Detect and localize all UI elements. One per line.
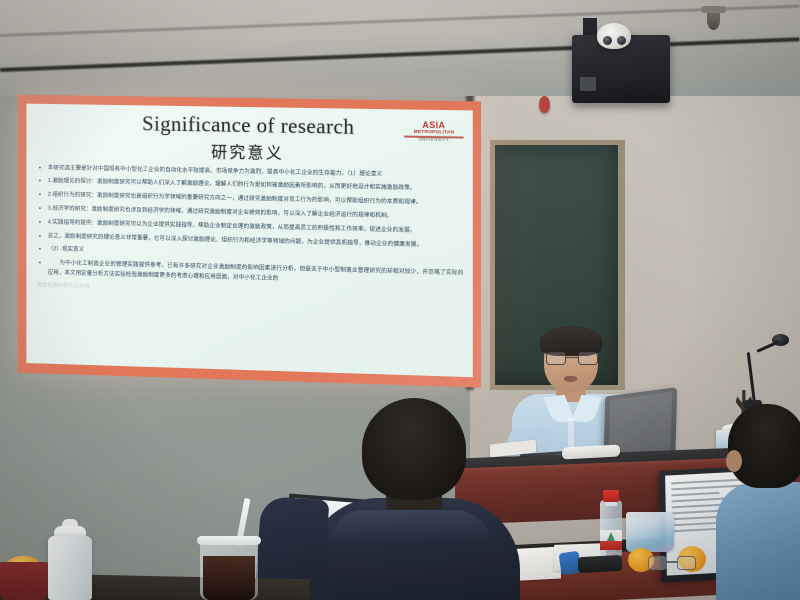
lens-right: [578, 352, 598, 365]
red-wall-decoration-icon: [539, 96, 550, 113]
bullet-marker-icon: •: [37, 245, 43, 255]
presenter-mouth: [564, 376, 577, 382]
document-line: [672, 528, 720, 532]
lens-right: [677, 556, 696, 570]
audience-right-torso: [716, 482, 800, 600]
document-line: [672, 510, 720, 514]
camera-lens-icon: [617, 36, 626, 45]
bullet-marker-icon: •: [37, 191, 43, 201]
glasses-bridge: [566, 357, 578, 358]
red-cup: [0, 562, 48, 600]
eyeglasses-icon: [546, 352, 598, 365]
bullet-marker-icon: •: [37, 164, 43, 174]
audience-right-ear: [726, 450, 742, 472]
cup-lid-rim: [197, 536, 261, 545]
water-bottle-label: [600, 530, 622, 550]
projection-screen-slide: ASIA METROPOLITAN UNIVERSITY Significanc…: [18, 95, 481, 388]
slide-bullet-list: • 本研究选主要是针对中国现有中小型化工企业的自动化水平较提高、市场竞争力为激烈…: [37, 164, 463, 371]
audience-person-right: [724, 404, 800, 600]
audience-person-center: [300, 398, 520, 600]
white-thermos-bottle: HEALTH: [48, 536, 92, 600]
ceiling-seam: [0, 5, 800, 37]
audience-center-hair: [362, 398, 466, 500]
glasses-bridge: [667, 561, 677, 563]
screen-mount-rail: [0, 37, 799, 72]
bullet-marker-icon: •: [37, 204, 43, 214]
bullet-marker-icon: •: [37, 177, 43, 187]
lens-left: [648, 556, 667, 570]
lens-left: [546, 352, 566, 365]
remote-control: [578, 555, 623, 573]
amu-university-logo: ASIA METROPOLITAN UNIVERSITY: [404, 121, 463, 143]
eyeglasses-on-table-icon: [648, 556, 696, 572]
audience-right-hair: [728, 404, 800, 488]
lecture-room-photo: ASIA METROPOLITAN UNIVERSITY Significanc…: [0, 0, 800, 600]
iced-coffee-liquid: [203, 556, 255, 600]
audience-center-shoulder-highlight: [330, 510, 490, 544]
ceiling: [0, 0, 800, 96]
bullet-marker-icon: •: [37, 218, 43, 228]
water-bottle-cap: [603, 490, 619, 502]
bullet-marker-icon: •: [37, 232, 43, 242]
camera-lens-icon: [603, 36, 612, 45]
fire-sprinkler-icon: [707, 10, 720, 30]
document-line: [671, 492, 719, 496]
face-mask: [626, 512, 674, 552]
dome-security-camera-icon: [597, 23, 631, 49]
slide-content: ASIA METROPOLITAN UNIVERSITY Significanc…: [26, 104, 472, 378]
bullet-marker-icon: •: [37, 259, 43, 278]
logo-line-metropolitan: METROPOLITAN: [404, 130, 463, 136]
